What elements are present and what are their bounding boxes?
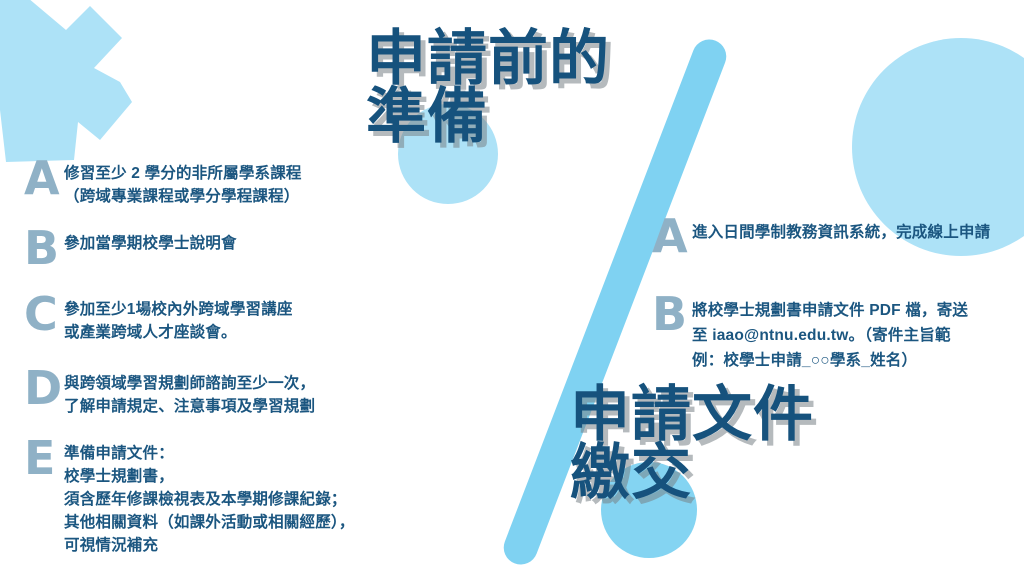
list-item: A 修習至少 2 學分的非所屬學系課程 （跨域專業課程或學分學程課程） [24,156,384,208]
list-item: B 參加當學期校學士說明會 [24,226,384,270]
item-marker-d: D [24,366,64,410]
submission-steps-list: A 進入日間學制教務資訊系統，完成線上申請 B 將校學士規劃書申請文件 PDF … [652,214,1024,407]
list-item: A 進入日間學制教務資訊系統，完成線上申請 [652,214,1024,258]
preparation-steps-list: A 修習至少 2 學分的非所屬學系課程 （跨域專業課程或學分學程課程） B 參加… [24,156,384,575]
list-item: B 將校學士規劃書申請文件 PDF 檔，寄送 至 iaao@ntnu.edu.t… [652,292,1024,373]
item-text: 準備申請文件： 校學士規劃書， 須含歷年修課檢視表及本學期修課紀錄； 其他相關資… [64,436,384,557]
list-item: E 準備申請文件： 校學士規劃書， 須含歷年修課檢視表及本學期修課紀錄； 其他相… [24,436,384,557]
slide-canvas: 申請前的 準備 申請文件 繳交 A 修習至少 2 學分的非所屬學系課程 （跨域專… [0,0,1024,576]
item-marker-b: B [24,226,64,270]
item-marker-c: C [24,292,64,336]
item-marker-a: A [24,156,64,200]
item-text: 修習至少 2 學分的非所屬學系課程 （跨域專業課程或學分學程課程） [64,156,384,208]
item-text: 參加至少1場校內外跨域學習講座 或產業跨域人才座談會。 [64,292,384,344]
item-text: 與跨領域學習規劃師諮詢至少一次， 了解申請規定、注意事項及學習規劃 [64,366,384,418]
item-text: 進入日間學制教務資訊系統，完成線上申請 [692,214,1024,245]
item-marker-b: B [652,292,692,336]
list-item: D 與跨領域學習規劃師諮詢至少一次， 了解申請規定、注意事項及學習規劃 [24,366,384,418]
item-text: 將校學士規劃書申請文件 PDF 檔，寄送 至 iaao@ntnu.edu.tw。… [692,292,1024,373]
item-text: 參加當學期校學士說明會 [64,226,384,255]
item-marker-a: A [652,214,692,258]
list-item: C 參加至少1場校內外跨域學習講座 或產業跨域人才座談會。 [24,292,384,344]
page-title-preparation: 申請前的 準備 [366,30,610,146]
item-marker-e: E [24,436,64,480]
